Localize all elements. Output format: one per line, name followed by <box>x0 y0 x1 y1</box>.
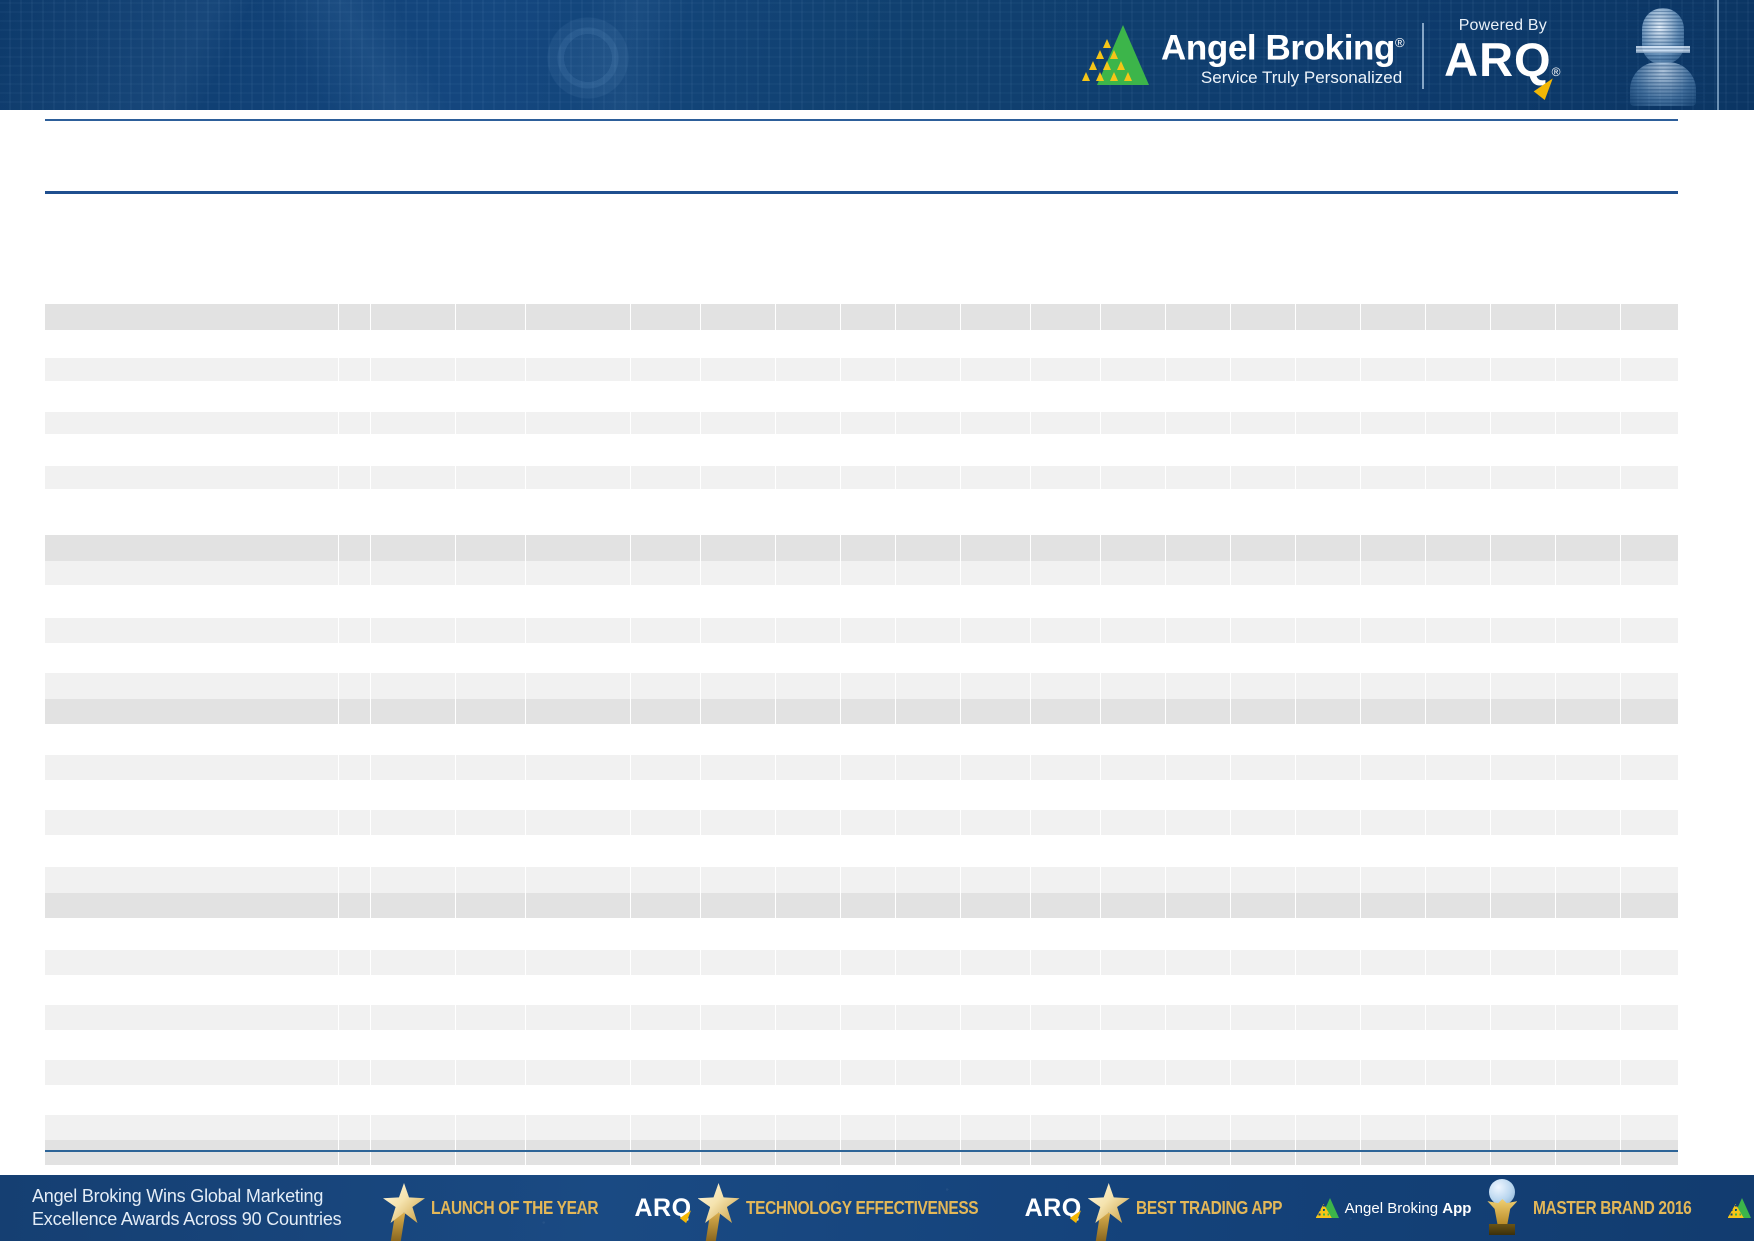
table-cell <box>370 358 455 381</box>
table-cell <box>1555 358 1620 381</box>
table-cell <box>1295 867 1360 893</box>
table-cell <box>1425 699 1490 724</box>
angel-broking-logo-icon: Angel Broking <box>1728 1198 1754 1218</box>
table-cell <box>1360 466 1425 489</box>
table-cell <box>960 358 1030 381</box>
table-cell <box>1360 535 1425 561</box>
table-cell <box>370 810 455 835</box>
table-cell <box>1230 673 1295 699</box>
table-cell <box>525 1140 630 1165</box>
table-cell <box>1490 618 1555 643</box>
table-cell <box>1100 412 1165 434</box>
table-cell <box>1425 1115 1490 1140</box>
table-cell <box>1490 673 1555 699</box>
table-cell <box>1490 1005 1555 1030</box>
table-cell <box>775 466 840 489</box>
table-cell <box>960 561 1030 585</box>
award-label: TECHNOLOGY EFFECTIVENESS <box>746 1198 978 1219</box>
table-cell <box>960 1140 1030 1165</box>
table-cell <box>338 304 370 330</box>
table-cell <box>1230 950 1295 975</box>
page-meta <box>930 128 1678 146</box>
table-cell <box>455 867 525 893</box>
table-cell <box>1030 699 1100 724</box>
table-cell <box>895 412 960 434</box>
table-cell <box>1030 1005 1100 1030</box>
table-cell <box>630 893 700 918</box>
table-cell <box>960 755 1030 780</box>
table-cell <box>525 1005 630 1030</box>
table-cell <box>895 1060 960 1085</box>
table-cell <box>1230 755 1295 780</box>
table-cell <box>775 412 840 434</box>
table-cell <box>1620 561 1678 585</box>
table-cell <box>1165 673 1230 699</box>
table-cell <box>960 618 1030 643</box>
table-cell <box>895 755 960 780</box>
table-cell <box>840 535 895 561</box>
table-cell <box>1620 304 1678 330</box>
award-label: MASTER BRAND 2016 <box>1533 1198 1691 1219</box>
table-cell <box>455 1140 525 1165</box>
table-cell <box>1490 893 1555 918</box>
angel-broking-triangle-icon <box>1083 25 1149 87</box>
table-cell <box>1360 1140 1425 1165</box>
table-cell <box>1425 810 1490 835</box>
table-cell <box>1425 950 1490 975</box>
table-cell <box>700 412 775 434</box>
table-cell <box>455 304 525 330</box>
table-cell <box>840 561 895 585</box>
table-cell <box>1360 755 1425 780</box>
table-cell <box>1295 358 1360 381</box>
table-cell <box>1425 304 1490 330</box>
table-cell <box>775 535 840 561</box>
top-rule <box>45 119 1678 121</box>
table-cell <box>700 1060 775 1085</box>
table-cell <box>840 1060 895 1085</box>
table-cell <box>455 358 525 381</box>
table-cell <box>1620 810 1678 835</box>
table-cell <box>45 950 338 975</box>
table-cell <box>1030 1140 1100 1165</box>
table-cell <box>1230 466 1295 489</box>
table-row <box>45 950 1678 975</box>
table-cell <box>525 466 630 489</box>
table-cell <box>338 673 370 699</box>
table-row <box>45 893 1678 918</box>
table-cell <box>370 535 455 561</box>
table-row <box>45 810 1678 835</box>
table-cell <box>1490 1060 1555 1085</box>
table-cell <box>1165 867 1230 893</box>
avatar-scanline-overlay <box>1620 6 1706 106</box>
table-cell <box>370 1005 455 1030</box>
table-cell <box>45 1060 338 1085</box>
table-cell <box>775 950 840 975</box>
table-cell <box>1230 304 1295 330</box>
table-cell <box>960 673 1030 699</box>
table-cell <box>1425 466 1490 489</box>
table-cell <box>1425 535 1490 561</box>
table-cell <box>1620 755 1678 780</box>
table-cell <box>1230 699 1295 724</box>
table-cell <box>1490 1115 1555 1140</box>
table-cell <box>370 755 455 780</box>
table-cell <box>700 810 775 835</box>
table-cell <box>525 755 630 780</box>
table-cell <box>1030 755 1100 780</box>
table-cell <box>525 618 630 643</box>
table-cell <box>1100 893 1165 918</box>
table-cell <box>455 950 525 975</box>
table-cell <box>338 1115 370 1140</box>
table-cell <box>455 561 525 585</box>
footer-awards-banner: Angel Broking Wins Global Marketing Exce… <box>0 1175 1754 1241</box>
brand-tagline: Service Truly Personalized <box>1161 67 1404 88</box>
table-row <box>45 1005 1678 1030</box>
table-cell <box>1490 466 1555 489</box>
table-cell <box>1230 358 1295 381</box>
table-cell <box>630 673 700 699</box>
star-icon <box>381 1177 429 1239</box>
table-cell <box>1425 1005 1490 1030</box>
table-cell <box>525 561 630 585</box>
award-badge: TECHNOLOGY EFFECTIVENESSARQ <box>692 1175 1082 1241</box>
arq-logo-icon: ARQ <box>634 1194 691 1223</box>
table-cell <box>1555 810 1620 835</box>
table-cell <box>1360 893 1425 918</box>
table-cell <box>1295 755 1360 780</box>
brand-wordmark: Angel Broking® Service Truly Personalize… <box>1161 24 1404 89</box>
table-cell <box>525 673 630 699</box>
table-cell <box>630 1060 700 1085</box>
table-cell <box>840 673 895 699</box>
table-row <box>45 304 1678 330</box>
table-cell <box>1295 1005 1360 1030</box>
table-cell <box>45 304 338 330</box>
table-cell <box>1555 950 1620 975</box>
table-cell <box>1490 699 1555 724</box>
table-cell <box>1360 412 1425 434</box>
table-cell <box>1165 699 1230 724</box>
table-cell <box>338 535 370 561</box>
table-cell <box>1490 867 1555 893</box>
table-cell <box>1165 950 1230 975</box>
table-cell <box>1425 561 1490 585</box>
table-row <box>45 755 1678 780</box>
table-cell <box>1620 535 1678 561</box>
footer-tagline-line-2: Excellence Awards Across 90 Countries <box>32 1208 377 1231</box>
table-cell <box>700 950 775 975</box>
yellow-dot-pyramid-icon <box>1085 39 1131 85</box>
table-cell <box>700 1140 775 1165</box>
table-cell <box>700 1115 775 1140</box>
table-cell <box>895 810 960 835</box>
table-cell <box>370 412 455 434</box>
table-cell <box>1100 673 1165 699</box>
table-cell <box>525 950 630 975</box>
table-cell <box>1360 699 1425 724</box>
table-cell <box>700 618 775 643</box>
table-cell <box>895 1115 960 1140</box>
table-cell <box>338 699 370 724</box>
table-cell <box>1230 412 1295 434</box>
table-cell <box>525 304 630 330</box>
table-cell <box>45 466 338 489</box>
award-badge: MASTER BRAND 2016Angel Broking <box>1471 1175 1754 1241</box>
table-cell <box>960 412 1030 434</box>
table-cell <box>1555 1060 1620 1085</box>
table-cell <box>1030 535 1100 561</box>
table-cell <box>1030 1115 1100 1140</box>
document-body <box>0 110 1754 1175</box>
table-cell <box>700 893 775 918</box>
table-cell <box>1295 699 1360 724</box>
table-cell <box>455 618 525 643</box>
table-cell <box>370 699 455 724</box>
table-cell <box>1490 412 1555 434</box>
table-cell <box>1100 950 1165 975</box>
table-cell <box>1425 618 1490 643</box>
table-cell <box>630 304 700 330</box>
table-cell <box>1165 1060 1230 1085</box>
table-cell <box>895 893 960 918</box>
table-row <box>45 561 1678 585</box>
table-cell <box>1295 893 1360 918</box>
table-cell <box>1165 412 1230 434</box>
table-cell <box>370 893 455 918</box>
table-cell <box>840 950 895 975</box>
table-cell <box>1360 810 1425 835</box>
table-cell <box>1295 561 1360 585</box>
table-cell <box>455 699 525 724</box>
table-cell <box>455 466 525 489</box>
table-cell <box>630 755 700 780</box>
table-cell <box>1360 561 1425 585</box>
table-cell <box>1360 358 1425 381</box>
table-cell <box>775 810 840 835</box>
table-cell <box>1295 950 1360 975</box>
table-cell <box>1555 618 1620 643</box>
table-cell <box>1620 466 1678 489</box>
table-cell <box>370 950 455 975</box>
table-cell <box>1230 810 1295 835</box>
logo-divider <box>1422 23 1424 89</box>
table-cell <box>1295 1060 1360 1085</box>
table-cell <box>630 810 700 835</box>
table-cell <box>960 699 1030 724</box>
star-icon <box>696 1177 744 1239</box>
table-cell <box>45 1115 338 1140</box>
table-cell <box>630 950 700 975</box>
table-cell <box>1165 893 1230 918</box>
table-cell <box>630 1005 700 1030</box>
table-cell <box>370 304 455 330</box>
table-cell <box>960 1060 1030 1085</box>
table-cell <box>1490 810 1555 835</box>
table-cell <box>1030 466 1100 489</box>
table-cell <box>1490 755 1555 780</box>
table-cell <box>840 755 895 780</box>
table-cell <box>45 867 338 893</box>
table-cell <box>840 618 895 643</box>
angel-broking-triangle-icon <box>1316 1198 1340 1218</box>
table-cell <box>840 358 895 381</box>
table-cell <box>1295 618 1360 643</box>
trophy-figure-shape <box>1487 1199 1517 1225</box>
table-cell <box>1620 673 1678 699</box>
trophy-icon <box>1475 1177 1529 1239</box>
table-cell <box>1100 358 1165 381</box>
star-icon <box>1086 1177 1134 1239</box>
table-cell <box>895 673 960 699</box>
table-cell <box>1230 893 1295 918</box>
table-cell <box>45 893 338 918</box>
table-cell <box>840 1005 895 1030</box>
registered-mark-icon: ® <box>1395 35 1404 50</box>
table-cell <box>840 412 895 434</box>
table-cell <box>1100 466 1165 489</box>
table-cell <box>1100 1060 1165 1085</box>
table-cell <box>700 535 775 561</box>
table-cell <box>775 304 840 330</box>
footer-tagline-line-1: Angel Broking Wins Global Marketing <box>32 1185 377 1208</box>
table-cell <box>840 867 895 893</box>
table-cell <box>895 304 960 330</box>
table-cell <box>1030 618 1100 643</box>
table-row <box>45 1060 1678 1085</box>
table-cell <box>525 699 630 724</box>
table-cell <box>338 618 370 643</box>
table-cell <box>1620 1140 1678 1165</box>
table-row <box>45 673 1678 699</box>
table-cell <box>45 1140 338 1165</box>
table-cell <box>525 412 630 434</box>
table-cell <box>1425 755 1490 780</box>
table-cell <box>1165 1115 1230 1140</box>
table-cell <box>775 1140 840 1165</box>
table-cell <box>1100 561 1165 585</box>
table-cell <box>700 699 775 724</box>
table-cell <box>960 535 1030 561</box>
table-row <box>45 1140 1678 1165</box>
arq-wordmark: ARQ® <box>1444 36 1561 96</box>
table-cell <box>1555 673 1620 699</box>
table-cell <box>1555 1115 1620 1140</box>
table-cell <box>525 893 630 918</box>
table-cell <box>775 358 840 381</box>
table-cell <box>840 1115 895 1140</box>
table-cell <box>1100 535 1165 561</box>
table-cell <box>1165 466 1230 489</box>
table-cell <box>1165 1005 1230 1030</box>
table-cell <box>1425 358 1490 381</box>
table-cell <box>1620 1115 1678 1140</box>
table-cell <box>1165 618 1230 643</box>
table-cell <box>45 1005 338 1030</box>
table-cell <box>45 358 338 381</box>
table-cell <box>775 867 840 893</box>
table-cell <box>960 893 1030 918</box>
table-cell <box>370 1115 455 1140</box>
table-row <box>45 618 1678 643</box>
table-cell <box>338 412 370 434</box>
table-cell <box>840 466 895 489</box>
table-cell <box>1620 1005 1678 1030</box>
table-cell <box>1555 1005 1620 1030</box>
table-cell <box>1030 1060 1100 1085</box>
table-cell <box>1100 867 1165 893</box>
table-cell <box>840 1140 895 1165</box>
table-cell <box>775 618 840 643</box>
table-cell <box>455 810 525 835</box>
footer-tagline: Angel Broking Wins Global Marketing Exce… <box>0 1185 377 1231</box>
table-cell <box>1360 1060 1425 1085</box>
table-row <box>45 412 1678 434</box>
table-cell <box>895 466 960 489</box>
table-cell <box>338 950 370 975</box>
table-cell <box>455 412 525 434</box>
table-cell <box>1030 673 1100 699</box>
awards-strip: LAUNCH OF THE YEARARQTECHNOLOGY EFFECTIV… <box>377 1175 1754 1241</box>
table-cell <box>1295 412 1360 434</box>
table-cell <box>1165 1140 1230 1165</box>
table-cell <box>1295 673 1360 699</box>
table-cell <box>455 1060 525 1085</box>
table-cell <box>1230 618 1295 643</box>
table-cell <box>1295 1115 1360 1140</box>
table-cell <box>1030 810 1100 835</box>
table-cell <box>338 561 370 585</box>
table-cell <box>960 950 1030 975</box>
table-cell <box>1425 412 1490 434</box>
table-cell <box>455 673 525 699</box>
table-cell <box>338 867 370 893</box>
table-cell <box>1620 1060 1678 1085</box>
table-cell <box>338 466 370 489</box>
table-cell <box>1555 304 1620 330</box>
table-cell <box>1555 699 1620 724</box>
table-cell <box>700 304 775 330</box>
table-cell <box>895 867 960 893</box>
table-cell <box>960 867 1030 893</box>
table-cell <box>455 1005 525 1030</box>
table-cell <box>370 466 455 489</box>
table-cell <box>1100 304 1165 330</box>
table-cell <box>1555 893 1620 918</box>
angel-broking-triangle-icon <box>1728 1198 1752 1218</box>
trophy-base-shape <box>1489 1224 1515 1235</box>
table-cell <box>525 867 630 893</box>
table-row <box>45 466 1678 489</box>
table-cell <box>1230 561 1295 585</box>
table-row <box>45 358 1678 381</box>
table-cell <box>840 304 895 330</box>
table-cell <box>370 867 455 893</box>
table-cell <box>775 1115 840 1140</box>
table-row <box>45 699 1678 724</box>
table-cell <box>1620 699 1678 724</box>
table-cell <box>1360 673 1425 699</box>
table-cell <box>700 867 775 893</box>
table-cell <box>338 810 370 835</box>
brand-name-text: Angel Broking <box>1161 28 1395 67</box>
table-cell <box>1360 867 1425 893</box>
table-cell <box>1490 561 1555 585</box>
table-cell <box>960 1005 1030 1030</box>
table-cell <box>1620 893 1678 918</box>
